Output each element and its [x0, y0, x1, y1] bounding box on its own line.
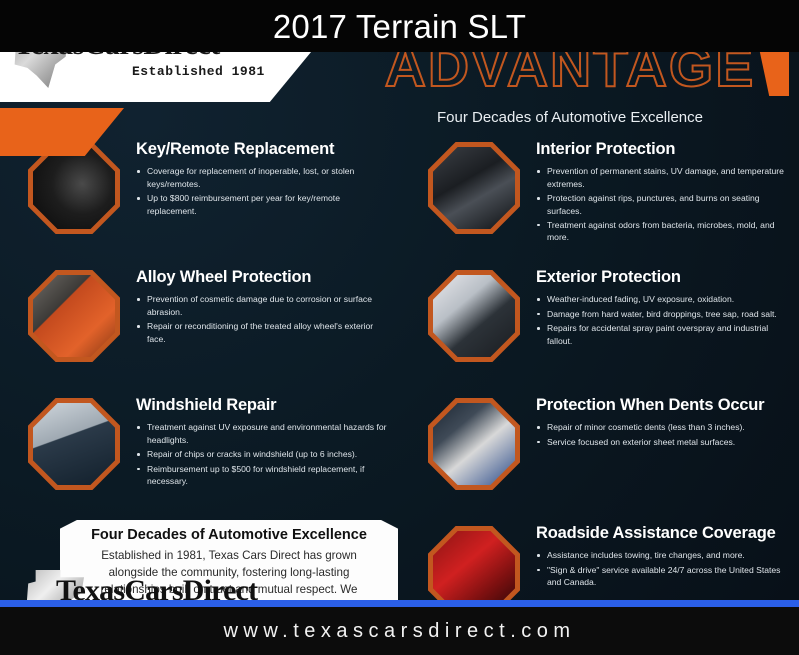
advantage-flyer: TexasCarsDirect Established 1981 ADVANTA…	[0, 52, 799, 603]
feature-interior-protection: Interior Protection Prevention of perman…	[400, 138, 799, 266]
red-car-roadside-photo	[433, 531, 515, 603]
feature-roadside-assistance-coverage: Roadside Assistance Coverage Assistance …	[400, 522, 799, 603]
feature-text: Interior Protection Prevention of perman…	[520, 138, 789, 246]
windshield-technician-photo	[33, 403, 115, 485]
logo-banner-inner: TexasCarsDirect Established 1981	[4, 52, 304, 102]
car-interior-photo	[433, 147, 515, 229]
feature-text: Key/Remote Replacement Coverage for repl…	[120, 138, 389, 219]
bullet-item: Repair or reconditioning of the treated …	[136, 320, 389, 345]
feature-title: Protection When Dents Occur	[536, 396, 764, 414]
bullet-item: Repair of chips or cracks in windshield …	[136, 448, 389, 460]
key-fob-photo	[33, 147, 115, 229]
advantage-heading: ADVANTAGE	[355, 52, 785, 98]
feature-exterior-protection: Exterior Protection Weather-induced fadi…	[400, 266, 799, 394]
bullet-item: Service focused on exterior sheet metal …	[536, 436, 764, 448]
dent-repair-technician-photo	[433, 403, 515, 485]
feature-windshield-repair: Windshield Repair Treatment against UV e…	[0, 394, 399, 522]
brand-wordmark: TexasCarsDirect	[56, 574, 257, 603]
feature-title: Exterior Protection	[536, 268, 789, 286]
feature-bullets: Weather-induced fading, UV exposure, oxi…	[536, 293, 789, 347]
advantage-heading-wrap: ADVANTAGE	[355, 52, 785, 98]
feature-text: Windshield Repair Treatment against UV e…	[120, 394, 389, 489]
feature-photo-frame	[428, 526, 520, 603]
feature-alloy-wheel-protection: Alloy Wheel Protection Prevention of cos…	[0, 266, 399, 394]
feature-title: Windshield Repair	[136, 396, 389, 414]
feature-title: Interior Protection	[536, 140, 789, 158]
feature-text: Exterior Protection Weather-induced fadi…	[520, 266, 789, 349]
alloy-wheel-repair-photo	[33, 275, 115, 357]
blue-divider	[0, 600, 799, 607]
feature-bullets: Prevention of cosmetic damage due to cor…	[136, 293, 389, 345]
feature-title: Key/Remote Replacement	[136, 140, 389, 158]
logo-banner: TexasCarsDirect Established 1981	[0, 52, 316, 102]
car-wash-foam-photo	[433, 275, 515, 357]
bullet-item: Protection against rips, punctures, and …	[536, 192, 789, 217]
feature-bullets: Prevention of permanent stains, UV damag…	[536, 165, 789, 244]
bullet-item: Prevention of cosmetic damage due to cor…	[136, 293, 389, 318]
brand-wordmark: TexasCarsDirect	[14, 52, 220, 62]
bullet-item: Treatment against UV exposure and enviro…	[136, 421, 389, 446]
feature-bullets: Coverage for replacement of inoperable, …	[136, 165, 389, 217]
feature-text: Protection When Dents Occur Repair of mi…	[520, 394, 764, 450]
header-tagline: Four Decades of Automotive Excellence	[355, 109, 785, 126]
listing-title-bar: 2017 Terrain SLT	[0, 0, 799, 52]
feature-photo-frame	[28, 270, 120, 362]
feature-text: Alloy Wheel Protection Prevention of cos…	[120, 266, 389, 347]
features-column-left: Key/Remote Replacement Coverage for repl…	[0, 138, 399, 522]
footer-bar: www.texascarsdirect.com	[0, 607, 799, 655]
bullet-item: Reimbursement up to $500 for windshield …	[136, 463, 389, 488]
info-panel-heading: Four Decades of Automotive Excellence	[60, 527, 398, 543]
bullet-item: Prevention of permanent stains, UV damag…	[536, 165, 789, 190]
features-column-right: Interior Protection Prevention of perman…	[400, 138, 799, 603]
bullet-item: Repair of minor cosmetic dents (less tha…	[536, 421, 764, 433]
bullet-item: Repairs for accidental spray paint overs…	[536, 322, 789, 347]
feature-key-remote-replacement: Key/Remote Replacement Coverage for repl…	[0, 138, 399, 266]
established-label: Established 1981	[132, 64, 265, 79]
feature-title: Alloy Wheel Protection	[136, 268, 389, 286]
feature-photo-frame	[428, 270, 520, 362]
feature-bullets: Repair of minor cosmetic dents (less tha…	[536, 421, 764, 448]
feature-title: Roadside Assistance Coverage	[536, 524, 789, 542]
bullet-item: Up to $800 reimbursement per year for ke…	[136, 192, 389, 217]
page-title: 2017 Terrain SLT	[273, 10, 526, 43]
bullet-item: Weather-induced fading, UV exposure, oxi…	[536, 293, 789, 305]
website-url: www.texascarsdirect.com	[223, 620, 575, 643]
watermark-logo: TexasCarsDirect	[22, 572, 282, 603]
bullet-item: Coverage for replacement of inoperable, …	[136, 165, 389, 190]
bullet-item: Damage from hard water, bird droppings, …	[536, 308, 789, 320]
bullet-item: Treatment against odors from bacteria, m…	[536, 219, 789, 244]
feature-bullets: Assistance includes towing, tire changes…	[536, 549, 789, 588]
feature-photo-frame	[428, 398, 520, 490]
feature-photo-frame	[428, 142, 520, 234]
bullet-item: "Sign & drive" service available 24/7 ac…	[536, 564, 789, 589]
feature-bullets: Treatment against UV exposure and enviro…	[136, 421, 389, 487]
feature-protection-when-dents-occur: Protection When Dents Occur Repair of mi…	[400, 394, 799, 522]
feature-photo-frame	[28, 398, 120, 490]
bullet-item: Assistance includes towing, tire changes…	[536, 549, 789, 561]
feature-text: Roadside Assistance Coverage Assistance …	[520, 522, 789, 591]
